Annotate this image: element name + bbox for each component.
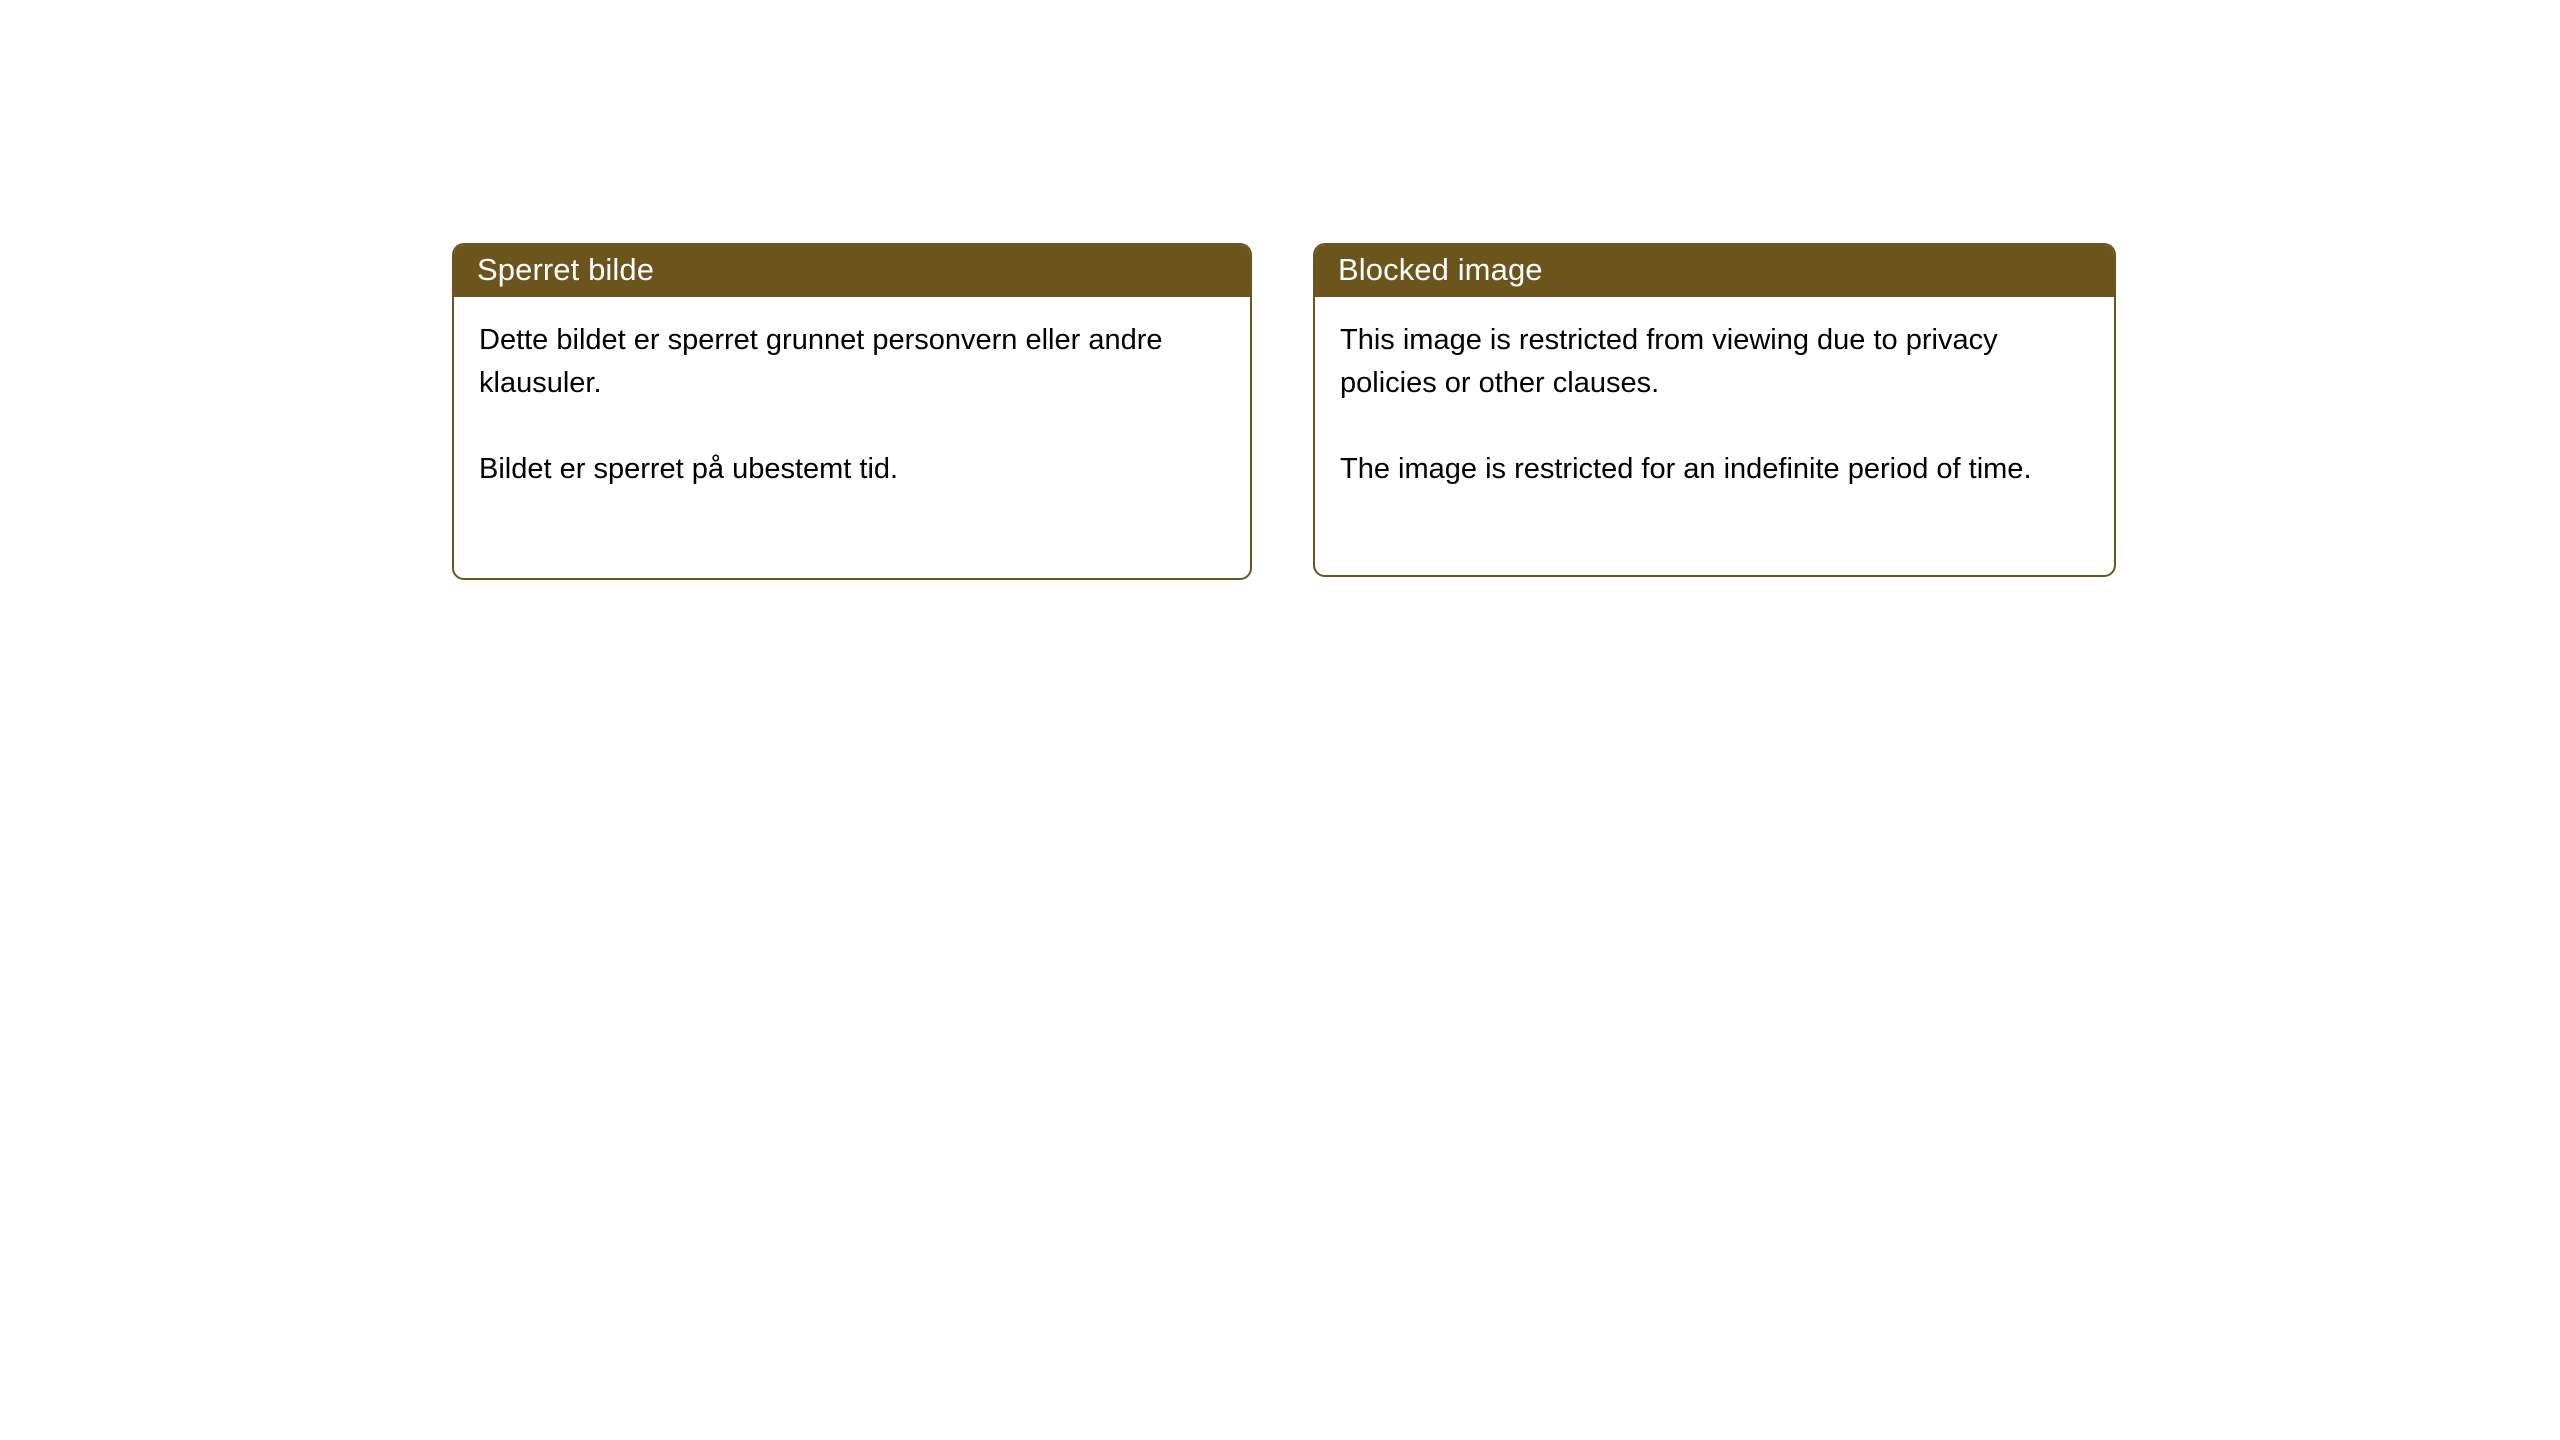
card-body-norwegian: Dette bildet er sperret grunnet personve… xyxy=(454,297,1250,491)
card-paragraph-reason-norwegian: Dette bildet er sperret grunnet personve… xyxy=(479,319,1194,405)
card-paragraph-reason-english: This image is restricted from viewing du… xyxy=(1340,319,2055,405)
blocked-image-notice-english: Blocked image This image is restricted f… xyxy=(1313,243,2116,577)
card-body-english: This image is restricted from viewing du… xyxy=(1315,297,2114,491)
page-root: Sperret bilde Dette bildet er sperret gr… xyxy=(0,0,2560,1440)
card-header-norwegian: Sperret bilde xyxy=(452,243,1252,297)
card-paragraph-duration-norwegian: Bildet er sperret på ubestemt tid. xyxy=(479,448,1194,491)
card-title-norwegian: Sperret bilde xyxy=(477,252,654,288)
card-title-english: Blocked image xyxy=(1338,252,1543,288)
blocked-image-notice-norwegian: Sperret bilde Dette bildet er sperret gr… xyxy=(452,243,1252,580)
card-paragraph-duration-english: The image is restricted for an indefinit… xyxy=(1340,448,2055,491)
card-header-english: Blocked image xyxy=(1313,243,2116,297)
